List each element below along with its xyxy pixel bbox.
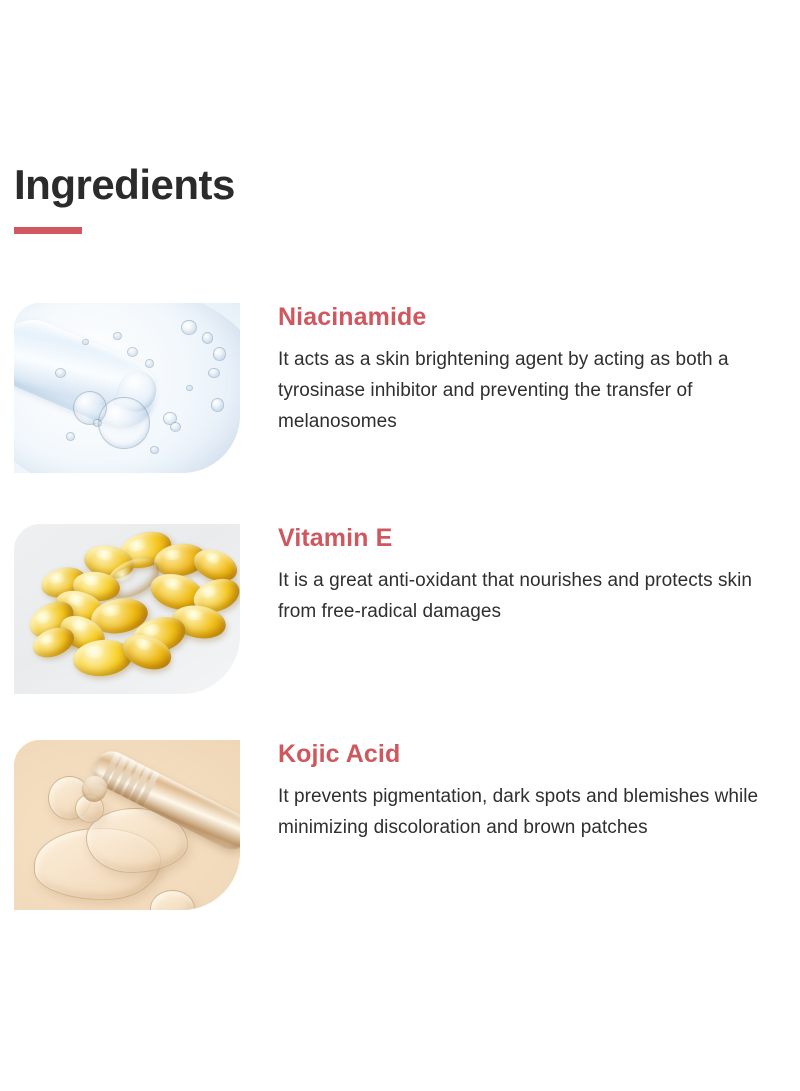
serum-pipette-blue-image: [14, 303, 240, 473]
bubble-icon: [211, 398, 225, 412]
bubble-icon: [82, 339, 89, 346]
ingredient-description: It is a great anti-oxidant that nourishe…: [278, 565, 783, 627]
bubble-icon: [213, 347, 227, 361]
image-clip: [14, 740, 240, 910]
image-clip: [14, 524, 240, 694]
ingredient-row: Niacinamide It acts as a skin brightenin…: [0, 303, 800, 473]
ingredient-text-block: Vitamin E It is a great anti-oxidant tha…: [240, 524, 800, 627]
ingredient-row: Vitamin E It is a great anti-oxidant tha…: [0, 524, 800, 694]
bubble-icon: [186, 385, 193, 392]
bubble-icon: [150, 446, 159, 455]
page-title: Ingredients: [14, 163, 235, 207]
bubble-icon: [145, 359, 154, 368]
bubble-icon: [66, 432, 75, 441]
image-clip: [14, 303, 240, 473]
section-header: Ingredients: [14, 163, 235, 234]
bubble-icon: [55, 368, 66, 378]
bubble-icon: [202, 332, 213, 344]
ingredients-page: Ingredients: [0, 0, 800, 1091]
ingredient-name: Vitamin E: [278, 524, 794, 553]
ingredient-image-kojic-acid: [14, 740, 240, 910]
ingredient-row: Kojic Acid It prevents pigmentation, dar…: [0, 740, 800, 910]
ingredient-text-block: Kojic Acid It prevents pigmentation, dar…: [240, 740, 800, 843]
ingredient-description: It prevents pigmentation, dark spots and…: [278, 781, 783, 843]
ingredient-description: It acts as a skin brightening agent by a…: [278, 344, 783, 437]
ingredient-name: Kojic Acid: [278, 740, 794, 769]
ingredient-name: Niacinamide: [278, 303, 794, 332]
ingredient-text-block: Niacinamide It acts as a skin brightenin…: [240, 303, 800, 437]
ingredient-image-niacinamide: [14, 303, 240, 473]
bubble-icon: [208, 368, 219, 378]
title-underline-rule: [14, 227, 82, 234]
vitamin-e-capsules-image: [14, 524, 240, 694]
gel-droplet-shape: [150, 890, 195, 910]
bubble-icon: [93, 419, 102, 428]
ingredient-image-vitamin-e: [14, 524, 240, 694]
serum-dropper-beige-image: [14, 740, 240, 910]
